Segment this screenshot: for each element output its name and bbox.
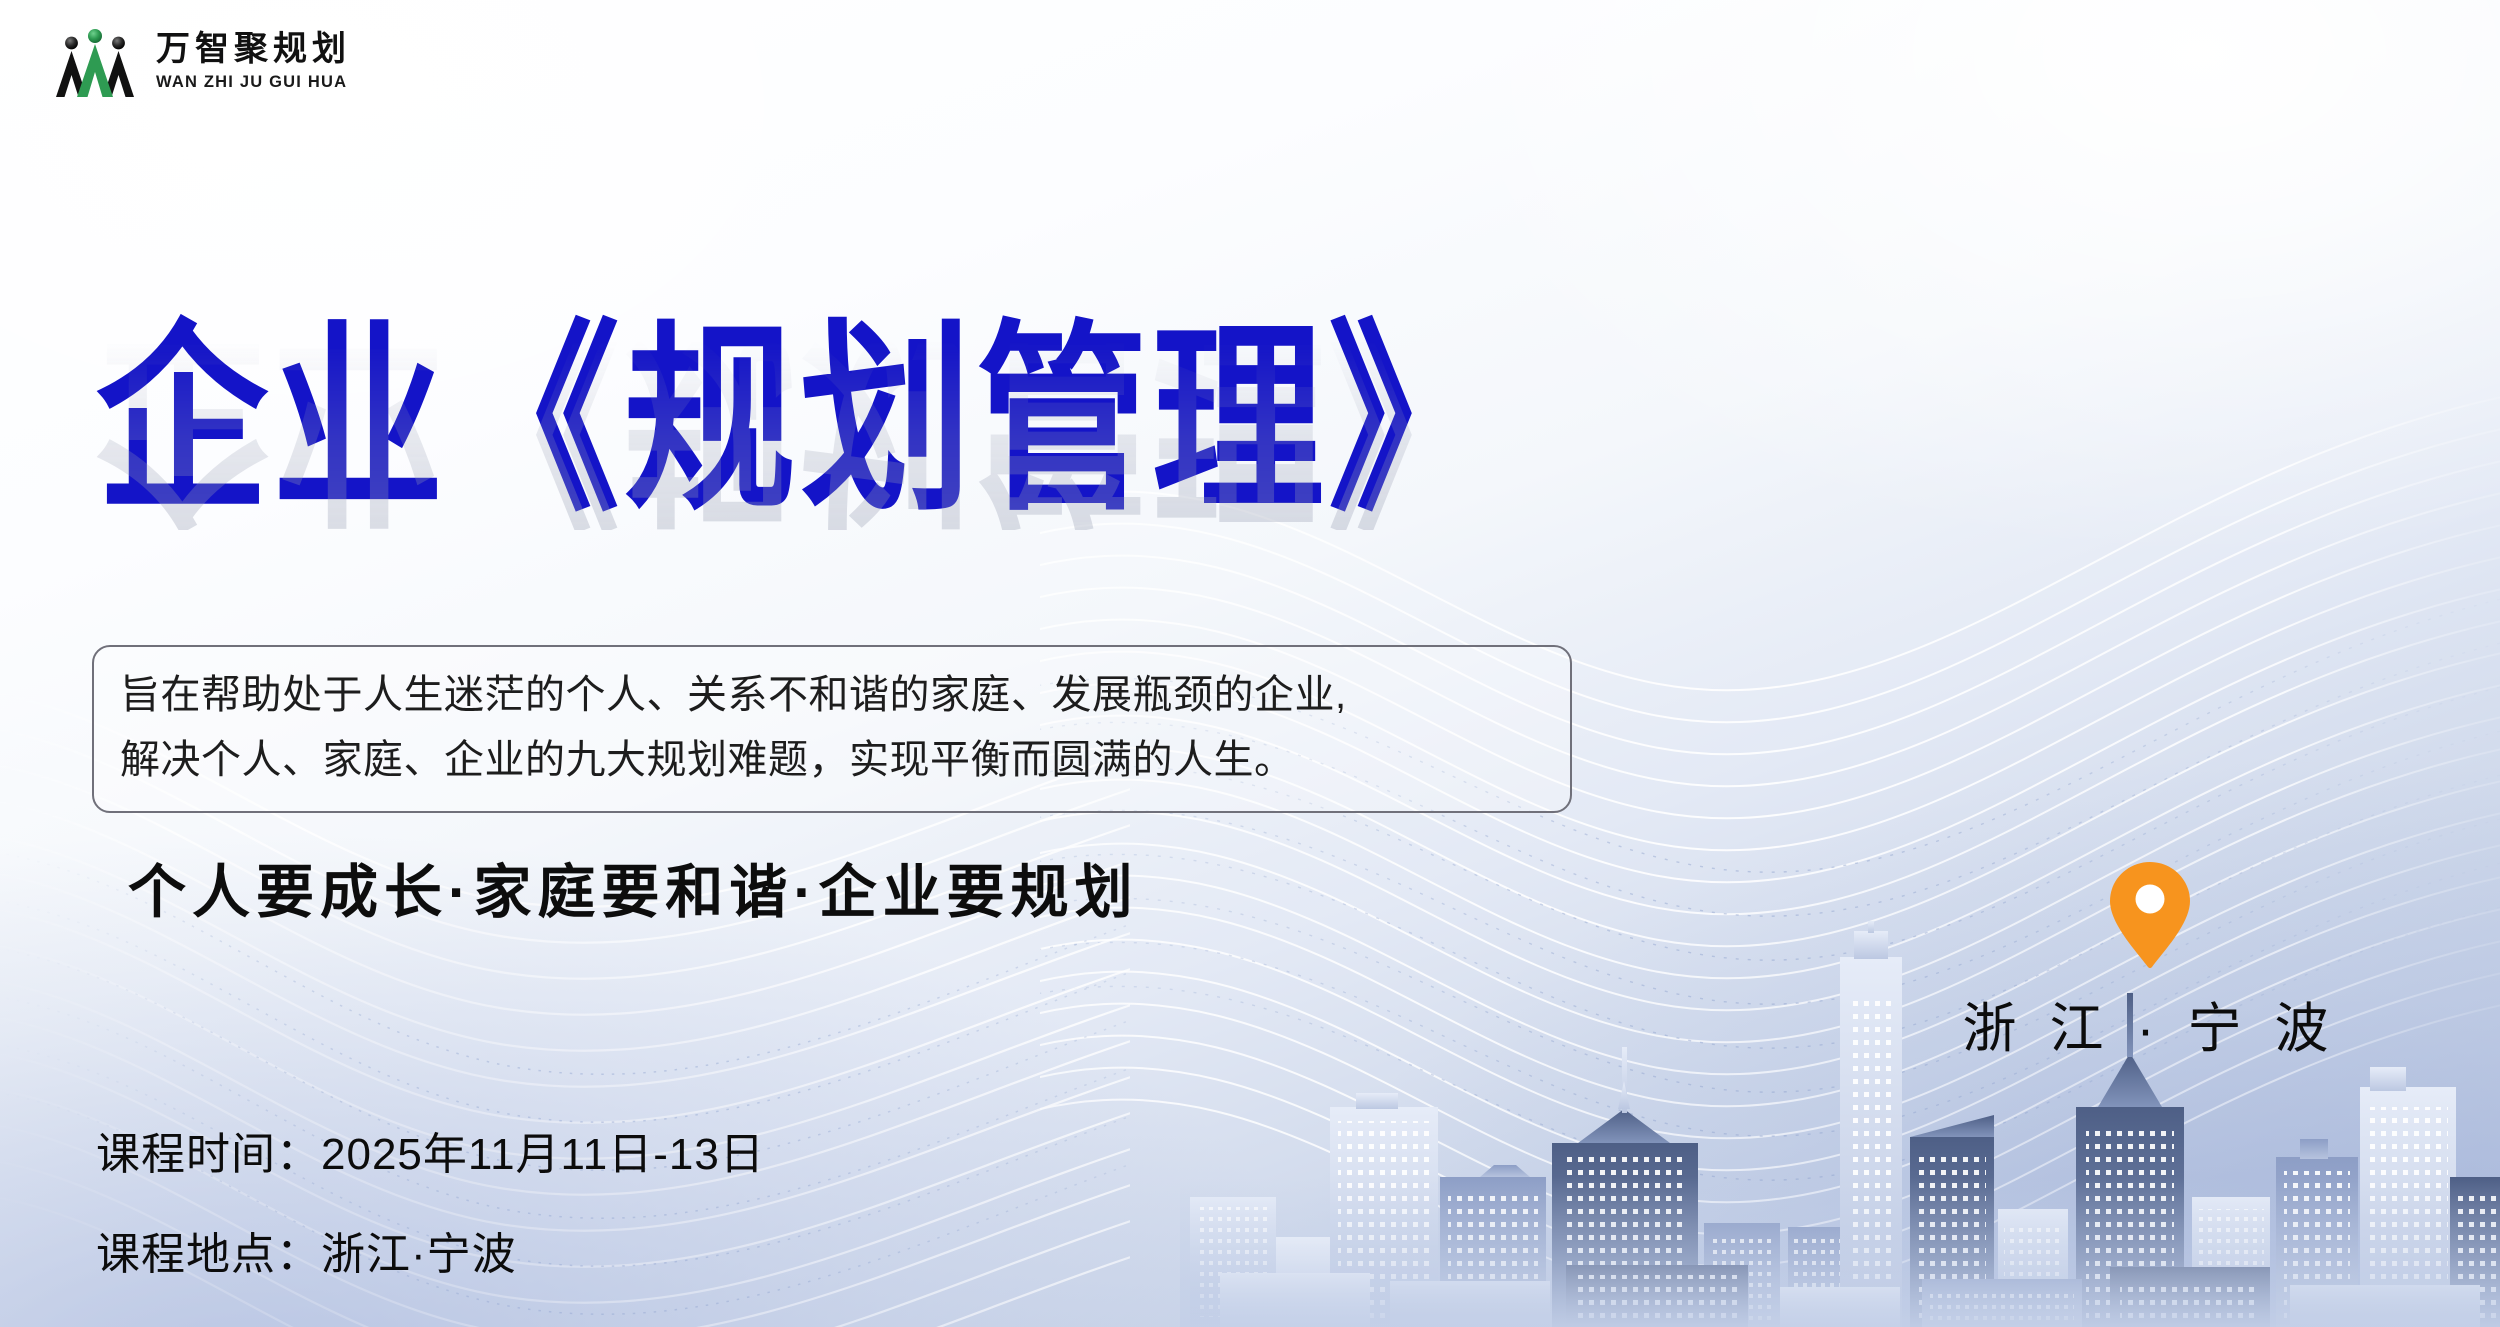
course-time: 课程时间：2025年11月11日-13日 <box>96 1118 765 1182</box>
location-label: 浙 江 · 宁 波 <box>1950 984 2350 1063</box>
description-line-2: 解决个人、家庭、企业的九大规划难题，实现平衡而圆满的人生。 <box>120 728 1546 793</box>
three-people-m-logo-icon <box>52 22 138 102</box>
brand-name-cn: 万智聚规划 <box>156 32 351 68</box>
course-place: 课程地点：浙江·宁波 <box>96 1218 765 1282</box>
location-badge: 浙 江 · 宁 波 <box>1950 860 2350 1063</box>
description-line-1: 旨在帮助处于人生迷茫的个人、关系不和谐的家庭、发展瓶颈的企业, <box>120 663 1546 728</box>
hero-title-block: 企业《规划管理》 企业《规划管理》 <box>96 318 1656 493</box>
brand-text: 万智聚规划 WAN ZHI JU GUI HUA <box>156 32 351 92</box>
description-box: 旨在帮助处于人生迷茫的个人、关系不和谐的家庭、发展瓶颈的企业, 解决个人、家庭、… <box>92 645 1572 813</box>
slogan: 个人要成长·家庭要和谐·企业要规划 <box>128 845 1139 929</box>
brand-name-en: WAN ZHI JU GUI HUA <box>156 73 351 92</box>
map-pin-icon <box>2107 860 2193 970</box>
course-details: 课程时间：2025年11月11日-13日 课程地点：浙江·宁波 <box>96 1118 765 1282</box>
page-title-reflection: 企业《规划管理》 <box>96 323 1656 530</box>
poster-canvas: 万智聚规划 WAN ZHI JU GUI HUA 企业《规划管理》 企业《规划管… <box>0 0 2500 1327</box>
brand-logo: 万智聚规划 WAN ZHI JU GUI HUA <box>52 22 351 102</box>
